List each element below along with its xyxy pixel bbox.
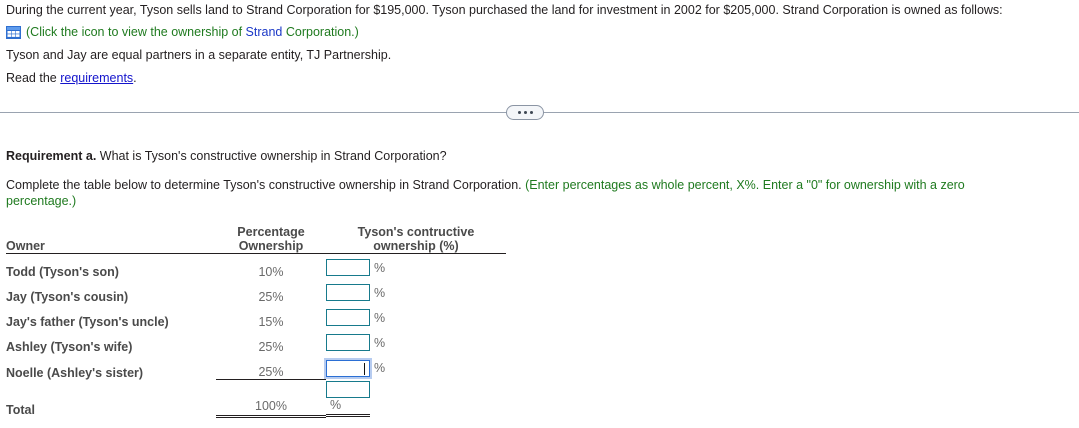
table-total-row: Total 100% % [6, 380, 506, 417]
constructive-ownership-input[interactable] [326, 334, 370, 351]
instruction-black: Complete the table below to determine Ty… [6, 178, 525, 192]
constructive-ownership-cell: % [326, 279, 506, 304]
column-header-percentage-line1: Percentage [216, 225, 326, 239]
table-header: Owner Percentage Ownership Tyson's contr… [6, 225, 506, 254]
answer-input-wrap: % [326, 259, 385, 276]
answer-input-wrap: % [326, 360, 385, 377]
owner-name: Jay's father (Tyson's uncle) [6, 304, 216, 329]
percentage-ownership-value: 25% [216, 329, 326, 354]
icon-hint-before: (Click the icon to view the ownership of [26, 25, 246, 39]
constructive-ownership-cell: % [326, 304, 506, 329]
column-header-owner: Owner [6, 225, 216, 254]
table-row: Jay's father (Tyson's uncle) 15% % [6, 304, 506, 329]
column-header-tysons-constructive-ownership: Tyson's contructive ownership (%) [326, 225, 506, 254]
read-requirements-line: Read the requirements. [6, 71, 1073, 86]
percent-sign: % [374, 286, 385, 300]
dot-icon [524, 111, 527, 114]
requirement-heading: Requirement a. What is Tyson's construct… [6, 148, 1073, 164]
total-constructive-ownership-cell: % [326, 380, 506, 417]
percent-sign: % [374, 361, 385, 375]
table-row: Jay (Tyson's cousin) 25% % [6, 279, 506, 304]
total-answer-input-wrap: % [326, 381, 370, 417]
percentage-ownership-value: 10% [216, 254, 326, 280]
percent-sign: % [374, 261, 385, 275]
constructive-ownership-table: Owner Percentage Ownership Tyson's contr… [6, 225, 506, 418]
constructive-ownership-cell: % [326, 254, 506, 280]
constructive-ownership-input[interactable] [326, 284, 370, 301]
requirement-label: Requirement a. [6, 149, 96, 163]
table-body: Todd (Tyson's son) 10% % Jay (Tyson's co… [6, 254, 506, 417]
table-grid-icon[interactable] [6, 26, 21, 39]
requirement-instruction: Complete the table below to determine Ty… [6, 177, 1036, 209]
total-percentage-value: 100% [216, 380, 326, 417]
table-row: Noelle (Ashley's sister) 25% % [6, 354, 506, 380]
divider-dots-button[interactable] [506, 105, 544, 120]
percent-sign: % [330, 398, 341, 412]
read-the-period: . [133, 71, 136, 85]
constructive-ownership-input-focused[interactable] [326, 360, 370, 377]
column-header-tyson-line2: ownership (%) [326, 239, 506, 253]
dot-icon [518, 111, 521, 114]
percentage-ownership-value: 25% [216, 354, 326, 380]
percent-sign: % [374, 336, 385, 350]
owner-name: Noelle (Ashley's sister) [6, 354, 216, 380]
problem-statement: During the current year, Tyson sells lan… [0, 0, 1079, 86]
percentage-ownership-value: 15% [216, 304, 326, 329]
constructive-ownership-input[interactable] [326, 309, 370, 326]
icon-hint-after: Corporation.) [282, 25, 358, 39]
problem-paragraph-1: During the current year, Tyson sells lan… [6, 3, 1073, 18]
table-row: Todd (Tyson's son) 10% % [6, 254, 506, 280]
column-header-percentage-line2: Ownership [216, 239, 326, 253]
owner-name: Jay (Tyson's cousin) [6, 279, 216, 304]
answer-input-wrap: % [326, 309, 385, 326]
constructive-ownership-cell: % [326, 354, 506, 380]
total-constructive-ownership-input[interactable] [326, 381, 370, 398]
percentage-ownership-value: 25% [216, 279, 326, 304]
total-label: Total [6, 380, 216, 417]
percent-sign: % [374, 311, 385, 325]
constructive-ownership-cell: % [326, 329, 506, 354]
answer-input-wrap: % [326, 334, 385, 351]
requirement-question: What is Tyson's constructive ownership i… [96, 149, 446, 163]
answer-input-wrap: % [326, 284, 385, 301]
table-header-row: Owner Percentage Ownership Tyson's contr… [6, 225, 506, 254]
column-header-tyson-line1: Tyson's contructive [326, 225, 506, 239]
requirements-link[interactable]: requirements [60, 71, 133, 85]
section-divider [0, 105, 1079, 121]
read-the-text: Read the [6, 71, 60, 85]
requirement-section: Requirement a. What is Tyson's construct… [0, 148, 1079, 209]
column-header-percentage-ownership: Percentage Ownership [216, 225, 326, 254]
dot-icon [530, 111, 533, 114]
table-row: Ashley (Tyson's wife) 25% % [6, 329, 506, 354]
constructive-ownership-input[interactable] [326, 259, 370, 276]
icon-hint-text: (Click the icon to view the ownership of… [26, 25, 359, 40]
strand-word: Strand [246, 25, 283, 39]
owner-name: Ashley (Tyson's wife) [6, 329, 216, 354]
problem-paragraph-2: Tyson and Jay are equal partners in a se… [6, 48, 1073, 63]
owner-name: Todd (Tyson's son) [6, 254, 216, 280]
ownership-icon-row: (Click the icon to view the ownership of… [6, 25, 1073, 40]
